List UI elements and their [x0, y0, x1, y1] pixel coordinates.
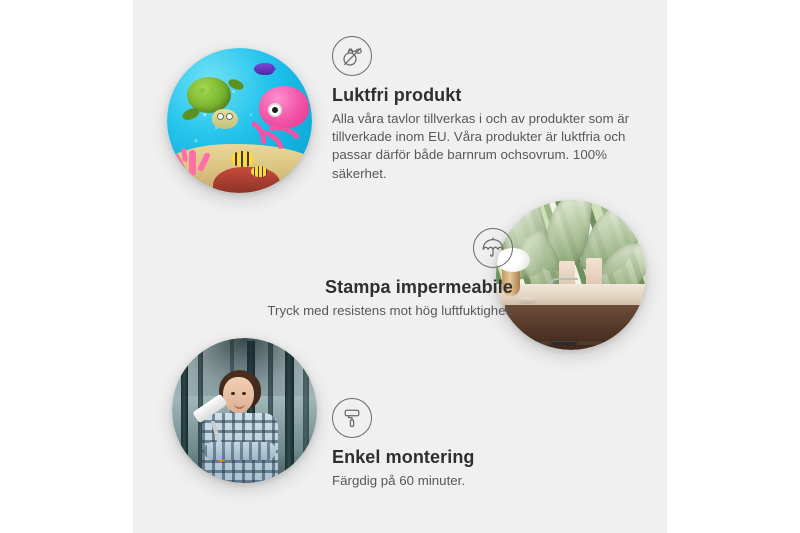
- turtle-shell: [187, 77, 231, 113]
- feature-panel: Luktfri produkt Alla våra tavlor tillver…: [133, 0, 667, 533]
- feature-odourless-title: Luktfri produkt: [332, 85, 632, 107]
- woman-figure: [195, 370, 285, 483]
- forest-image-inner: [172, 338, 317, 483]
- octopus-eye: [268, 103, 282, 117]
- woman-eye-right: [242, 392, 246, 395]
- bathroom-soap-dish: [517, 297, 537, 304]
- feature-mounting-description: Färgdig på 60 minuter.: [332, 472, 612, 490]
- umbrella-icon: [473, 228, 513, 268]
- small-striped-fish: [251, 166, 267, 177]
- feature-mounting-title: Enkel montering: [332, 447, 612, 469]
- product-image-forest[interactable]: [172, 338, 317, 483]
- turtle-head: [212, 109, 238, 129]
- bathroom-image-inner: [496, 200, 646, 350]
- bathroom-drawer-handle: [551, 342, 577, 345]
- feature-odourless-icon-row: [332, 36, 632, 76]
- feature-mounting-icon-row: [332, 398, 612, 438]
- product-image-sea[interactable]: [167, 48, 312, 193]
- octopus-head: [259, 86, 309, 128]
- purple-fish: [254, 63, 274, 75]
- bathroom-door-handle: [631, 322, 634, 348]
- sea-image-inner: [167, 48, 312, 193]
- paint-roller-icon: [332, 398, 372, 438]
- feature-odourless-description: Alla våra tavlor tillverkas i och av pro…: [332, 110, 632, 183]
- sea-rock: [213, 167, 280, 193]
- coral: [173, 142, 213, 176]
- feature-waterproof: Stampa impermeabile Tryck med resistens …: [213, 228, 513, 320]
- no-fragrance-icon: [332, 36, 372, 76]
- feature-waterproof-icon-row: [213, 228, 513, 268]
- feature-mounting: Enkel montering Färgdig på 60 minuter.: [332, 398, 612, 490]
- feature-waterproof-title: Stampa impermeabile: [213, 277, 513, 299]
- feature-odourless: Luktfri produkt Alla våra tavlor tillver…: [332, 36, 632, 183]
- woman-face: [223, 377, 254, 413]
- woman-folded-arms: [204, 442, 276, 460]
- feature-waterproof-description: Tryck med resistens mot hög luftfuktighe…: [213, 302, 513, 320]
- product-image-bathroom[interactable]: [496, 200, 646, 350]
- screenshot-root: Luktfri produkt Alla våra tavlor tillver…: [0, 0, 800, 533]
- yellow-striped-fish: [231, 151, 253, 167]
- woman-eye-left: [231, 392, 235, 395]
- bathroom-vanity-cabinet: [505, 305, 646, 350]
- woman-smile: [234, 401, 245, 409]
